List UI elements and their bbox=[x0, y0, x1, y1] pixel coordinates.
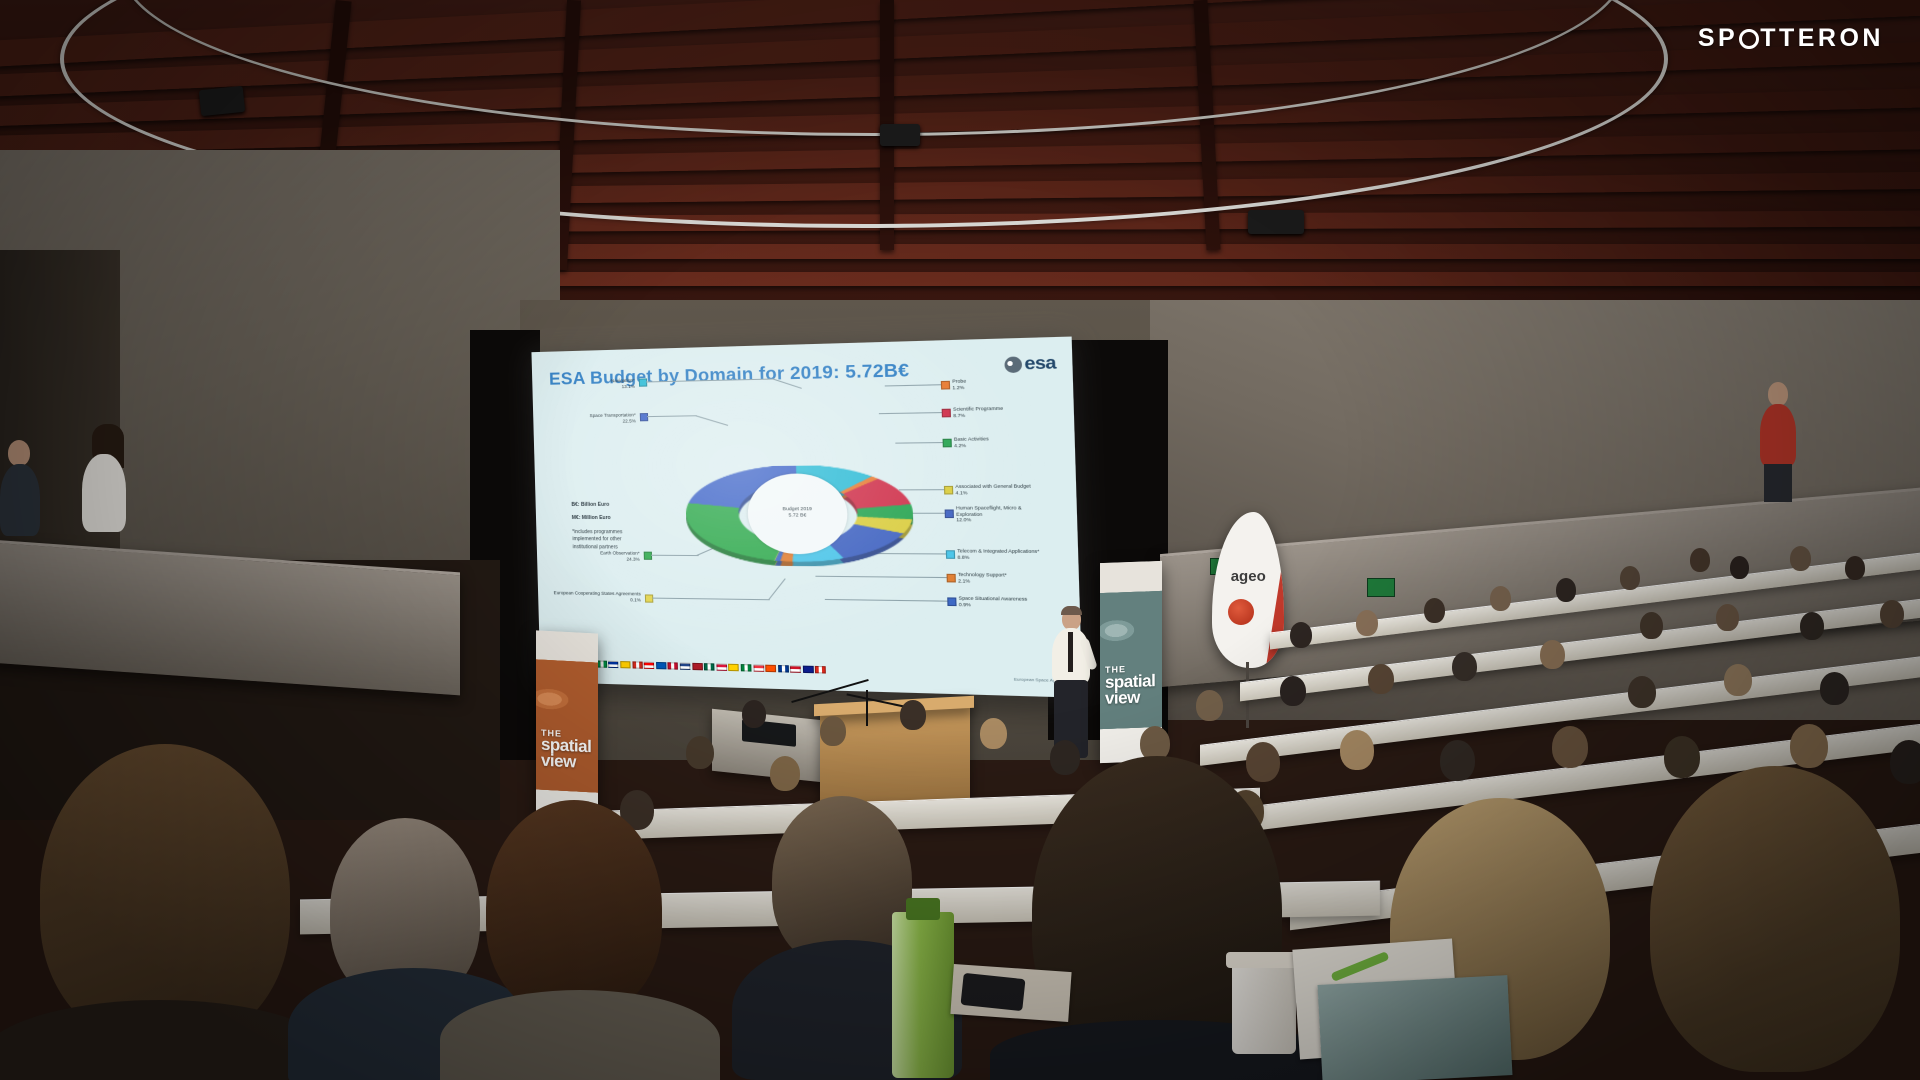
callout-scientific-label: Scientific Programme bbox=[953, 406, 1003, 413]
swatch-scientific-programme bbox=[942, 409, 951, 418]
callout-scientific-value: 8.7% bbox=[953, 412, 1003, 419]
callout-telecom-value: 8.8% bbox=[957, 554, 1039, 561]
slide: ESA Budget by Domain for 2019: 5.72B€ es… bbox=[531, 337, 1082, 698]
flag-icon bbox=[716, 663, 727, 671]
donut-chart: Budget 2019 5.72 B€ bbox=[683, 420, 915, 607]
spotteron-watermark: SP TTERON bbox=[1698, 24, 1884, 53]
standing-person-right bbox=[1758, 382, 1798, 502]
callout-probe-label: Probe bbox=[952, 378, 966, 384]
flag-icon bbox=[668, 662, 679, 670]
flag-icon bbox=[680, 662, 691, 670]
note-million: M€: Million Euro bbox=[572, 515, 637, 523]
swatch-technology-support bbox=[947, 574, 956, 583]
callout-ecs-agreements: European Cooperating States Agreements 0… bbox=[546, 590, 641, 603]
swatch-probe bbox=[941, 381, 950, 390]
flag-icon bbox=[778, 665, 789, 673]
flag-icon bbox=[765, 664, 776, 672]
globe-icon bbox=[1228, 599, 1254, 625]
rollup-right-art: THE spatial view bbox=[1100, 591, 1162, 729]
water-bottle bbox=[892, 912, 954, 1078]
callout-human-value: 12.0% bbox=[956, 517, 1049, 523]
rollup-left-logo bbox=[536, 630, 598, 662]
projection-screen[interactable]: ESA Budget by Domain for 2019: 5.72B€ es… bbox=[531, 337, 1082, 698]
rollup-banner-left: THE spatial view bbox=[536, 630, 598, 825]
flag-icon bbox=[620, 661, 630, 669]
flag-icon bbox=[728, 663, 739, 671]
callout-basic-activities: Basic Activities 4.2% bbox=[954, 436, 989, 448]
swatch-ssa bbox=[947, 597, 956, 606]
flag-icon bbox=[608, 660, 618, 668]
standing-person-left-2 bbox=[0, 440, 44, 570]
callout-earth-observation-value: 24.3% bbox=[563, 556, 640, 562]
phone bbox=[960, 973, 1025, 1011]
callout-scientific-programme: Scientific Programme 8.7% bbox=[953, 406, 1003, 419]
callout-associated-general-budget: Associated with General Budget 4.1% bbox=[955, 483, 1031, 495]
callout-human-spaceflight: Human Spaceflight, Micro & Exploration 1… bbox=[956, 505, 1049, 523]
flag-icon bbox=[644, 661, 654, 669]
callout-earth-observation: Earth Observation* 24.3% bbox=[563, 550, 640, 562]
flag-icon bbox=[656, 662, 667, 670]
swatch-space-transportation bbox=[640, 413, 648, 421]
rollup-right-logo bbox=[1100, 561, 1162, 593]
rollup-right-line2: view bbox=[1105, 689, 1155, 707]
swatch-human-spaceflight bbox=[945, 509, 954, 518]
note-billion: B€: Billion Euro bbox=[571, 502, 636, 510]
rollup-left-text: THE spatial view bbox=[541, 728, 591, 771]
callout-techsup-value: 2.1% bbox=[958, 578, 1007, 585]
swatch-basic-activities bbox=[943, 439, 952, 448]
callout-ssa: Space Situational Awareness 0.9% bbox=[959, 595, 1028, 608]
donut-center-line2: 5.72 B€ bbox=[788, 513, 806, 520]
conference-hall-photo: ESA Budget by Domain for 2019: 5.72B€ es… bbox=[0, 0, 1920, 1080]
presenter bbox=[1048, 608, 1092, 758]
callout-basic-label: Basic Activities bbox=[954, 436, 989, 442]
callout-space-transportation: Space Transportation* 22.5% bbox=[553, 412, 636, 425]
donut-center-line1: Budget 2019 bbox=[783, 507, 813, 514]
swatch-telecom bbox=[946, 550, 955, 559]
callout-space-transportation-value: 22.5% bbox=[553, 418, 636, 425]
callout-basic-value: 4.2% bbox=[954, 442, 989, 448]
callout-assoc-label: Associated with General Budget bbox=[955, 483, 1031, 489]
exit-sign bbox=[1367, 578, 1395, 597]
rollup-left-art: THE spatial view bbox=[536, 659, 598, 793]
callout-technology-support: Technology Support* 2.1% bbox=[958, 572, 1007, 585]
callout-ssa-value: 0.9% bbox=[959, 601, 1028, 608]
callout-probe: Probe 1.2% bbox=[952, 378, 966, 390]
flag-icon bbox=[597, 660, 607, 668]
flag-icon bbox=[704, 663, 715, 671]
swatch-associated-general-budget bbox=[944, 486, 953, 495]
callout-assoc-value: 4.1% bbox=[955, 489, 1031, 495]
flag-icon bbox=[790, 665, 801, 673]
flag-icon bbox=[803, 665, 814, 673]
member-state-flags bbox=[562, 659, 827, 673]
brochure bbox=[1318, 975, 1513, 1080]
flag-icon bbox=[632, 661, 642, 669]
esa-logo: esa bbox=[1004, 352, 1056, 375]
esa-mark-icon bbox=[1004, 356, 1022, 373]
flag-icon bbox=[753, 664, 764, 672]
callout-navigation-value: 13.1% bbox=[568, 383, 635, 390]
flag-icon bbox=[741, 664, 752, 672]
coffee-cup bbox=[1232, 962, 1296, 1054]
flag-icon bbox=[815, 666, 826, 674]
slide-notes: B€: Billion Euro M€: Million Euro *inclu… bbox=[571, 502, 637, 553]
callout-telecom-label: Telecom & Integrated Applications* bbox=[957, 548, 1039, 555]
esa-wordmark: esa bbox=[1024, 352, 1056, 375]
swatch-navigation bbox=[639, 378, 647, 386]
callout-probe-value: 1.2% bbox=[952, 384, 966, 390]
watermark-text-after: TTERON bbox=[1760, 24, 1884, 53]
rollup-right-text: THE spatial view bbox=[1105, 665, 1155, 708]
watermark-text-before: SP bbox=[1698, 24, 1738, 53]
ageo-wordmark: ageo bbox=[1231, 568, 1266, 585]
callout-telecom: Telecom & Integrated Applications* 8.8% bbox=[957, 548, 1039, 561]
microphone-pole bbox=[866, 690, 868, 726]
standing-person-left bbox=[78, 428, 130, 578]
callout-human-label: Human Spaceflight, Micro & Exploration bbox=[956, 505, 1049, 517]
map-pin-icon bbox=[1739, 29, 1759, 49]
flag-icon bbox=[692, 662, 703, 670]
callout-navigation: Navigation* 13.1% bbox=[568, 378, 635, 391]
note-asterisk: *includes programmes implemented for oth… bbox=[572, 529, 637, 553]
